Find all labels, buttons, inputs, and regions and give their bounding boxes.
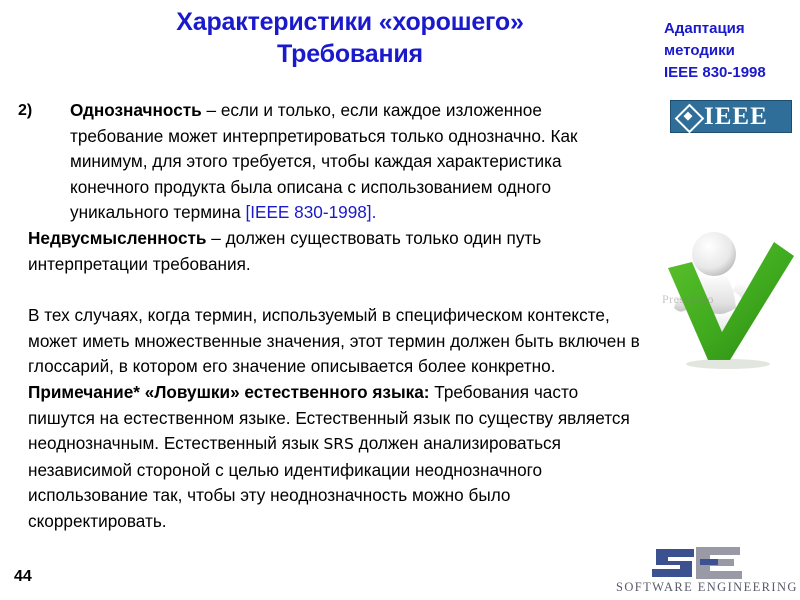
paragraph-ambiguity-definition: Недвусмысленность – должен существовать … [0, 226, 640, 277]
page-title-line-1: Характеристики «хорошего» [60, 6, 640, 38]
term-dash-2: – [207, 228, 226, 248]
list-item-unambiguity: 2) Однозначность – если и только, если к… [0, 98, 800, 226]
ieee-citation: [IEEE 830-1998]. [245, 202, 376, 222]
paragraph-note: Примечание* «Ловушки» естественного язык… [0, 380, 640, 535]
note-abbreviation-srs: SRS [323, 435, 353, 453]
page-title-line-2: Требования [60, 38, 640, 70]
header-note-line-3: IEEE 830-1998 [664, 62, 800, 84]
paragraph-spacer [0, 277, 800, 303]
se-monogram-icon [648, 543, 758, 583]
page-title: Характеристики «хорошего» Требования [60, 6, 640, 70]
term-dash-1: – [202, 100, 221, 120]
header-note-line-2: методики [664, 40, 800, 62]
page-number: 44 [14, 568, 32, 586]
slide-body: 2) Однозначность – если и только, если к… [0, 98, 800, 535]
list-item-number: 2) [18, 98, 32, 124]
paragraph-3-text: В тех случаях, когда термин, используемы… [28, 305, 640, 376]
term-unambiguity: Однозначность [70, 100, 202, 120]
note-label: Примечание* «Ловушки» естественного язык… [28, 382, 430, 402]
paragraph-glossary: В тех случаях, когда термин, используемы… [0, 303, 640, 380]
se-logo-caption: SOFTWARE ENGINEERING [616, 580, 796, 595]
header-note-line-1: Адаптация [664, 18, 800, 40]
software-engineering-logo: SOFTWARE ENGINEERING [596, 543, 796, 595]
list-item-body: Однозначность – если и только, если кажд… [70, 98, 630, 226]
header-methodology-note: Адаптация методики IEEE 830-1998 [664, 18, 800, 83]
term-nedvusmyslennost: Недвусмысленность [28, 228, 207, 248]
